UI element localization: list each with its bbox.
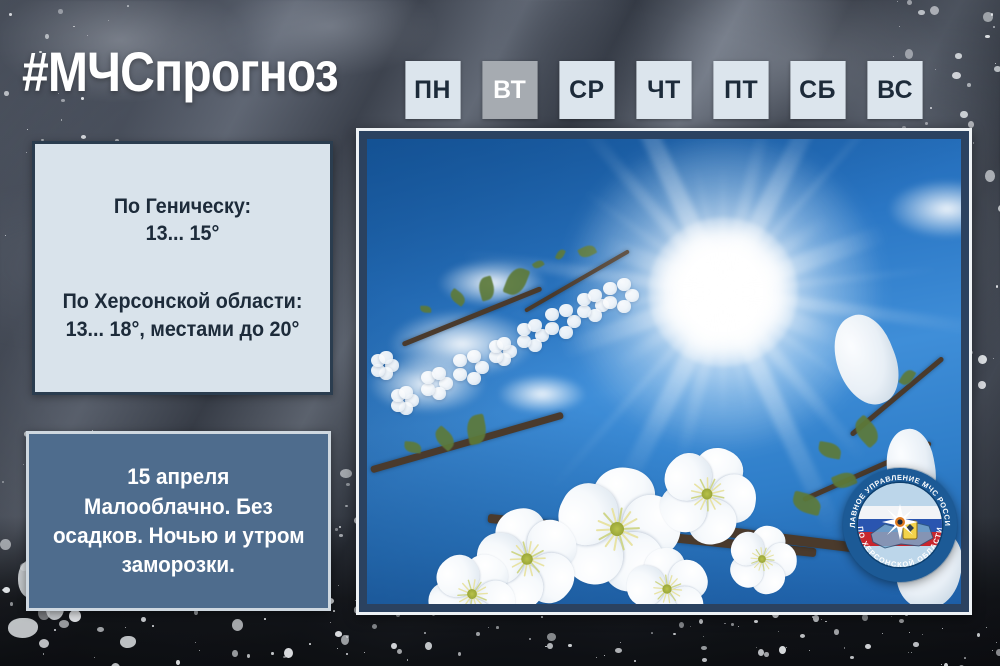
forecast-line: заморозки.: [114, 550, 242, 579]
day-tab-label: СБ: [800, 76, 837, 105]
petal-small: [453, 354, 467, 367]
day-tab-label: СР: [569, 76, 605, 105]
day-tab-пн[interactable]: ПН: [405, 61, 460, 119]
temperature-block: По Херсонской области: 13... 18°, местам…: [35, 288, 330, 343]
petal-small: [603, 282, 617, 295]
petal-small: [617, 278, 631, 291]
cloud: [887, 179, 961, 239]
forecast-line: Малооблачно. Без: [77, 492, 281, 521]
day-tab-пт[interactable]: ПТ: [713, 61, 768, 119]
temperature-value: 13... 18°, местами до 20°: [44, 316, 321, 344]
day-tab-вт[interactable]: ВТ: [482, 61, 537, 119]
day-tab-label: ПН: [415, 76, 452, 105]
forecast-panel: 15 апреля Малооблачно. Без осадков. Ночь…: [26, 431, 331, 611]
petal-small: [467, 350, 481, 363]
petal-small: [577, 305, 591, 318]
sun-glow: [573, 142, 873, 442]
leaf: [420, 306, 431, 313]
forecast-date: 15 апреля: [120, 462, 237, 491]
petal-small: [617, 300, 631, 313]
temperature-heading: По Херсонской области:: [44, 288, 321, 316]
petal-small: [559, 326, 573, 339]
petal-small: [517, 335, 531, 348]
temperature-value: 13... 15°: [44, 220, 321, 248]
petal-small: [545, 308, 559, 321]
petal-small: [421, 383, 435, 396]
day-tab-label: ВС: [877, 76, 913, 105]
cloud: [497, 374, 587, 414]
day-tab-чт[interactable]: ЧТ: [636, 61, 691, 119]
temperature-block: По Геническу: 13... 15°: [35, 193, 330, 248]
page-title: #МЧСпрогноз: [22, 44, 338, 100]
petal-small: [559, 304, 573, 317]
temperature-panel: По Геническу: 13... 15° По Херсонской об…: [32, 141, 333, 395]
day-tabs[interactable]: ПНВТСРЧТПТСБВС: [403, 61, 925, 119]
day-tab-вс[interactable]: ВС: [867, 61, 922, 119]
day-tab-label: ПТ: [724, 76, 758, 105]
forecast-poster: #МЧСпрогноз ПНВТСРЧТПТСБВС По Геническу:…: [0, 0, 1000, 666]
day-tab-сб[interactable]: СБ: [790, 61, 845, 119]
temperature-heading: По Геническу:: [44, 193, 321, 221]
day-tab-label: ВТ: [493, 76, 526, 105]
day-tab-ср[interactable]: СР: [559, 61, 614, 119]
forecast-line: осадков. Ночью и утром: [45, 521, 312, 550]
day-tab-label: ЧТ: [647, 76, 681, 105]
mchs-emblem: ГЛАВНОЕ УПРАВЛЕНИЕ МЧС РОССИИ ПО ХЕРСОНС…: [841, 466, 959, 584]
petal-small: [467, 372, 481, 385]
